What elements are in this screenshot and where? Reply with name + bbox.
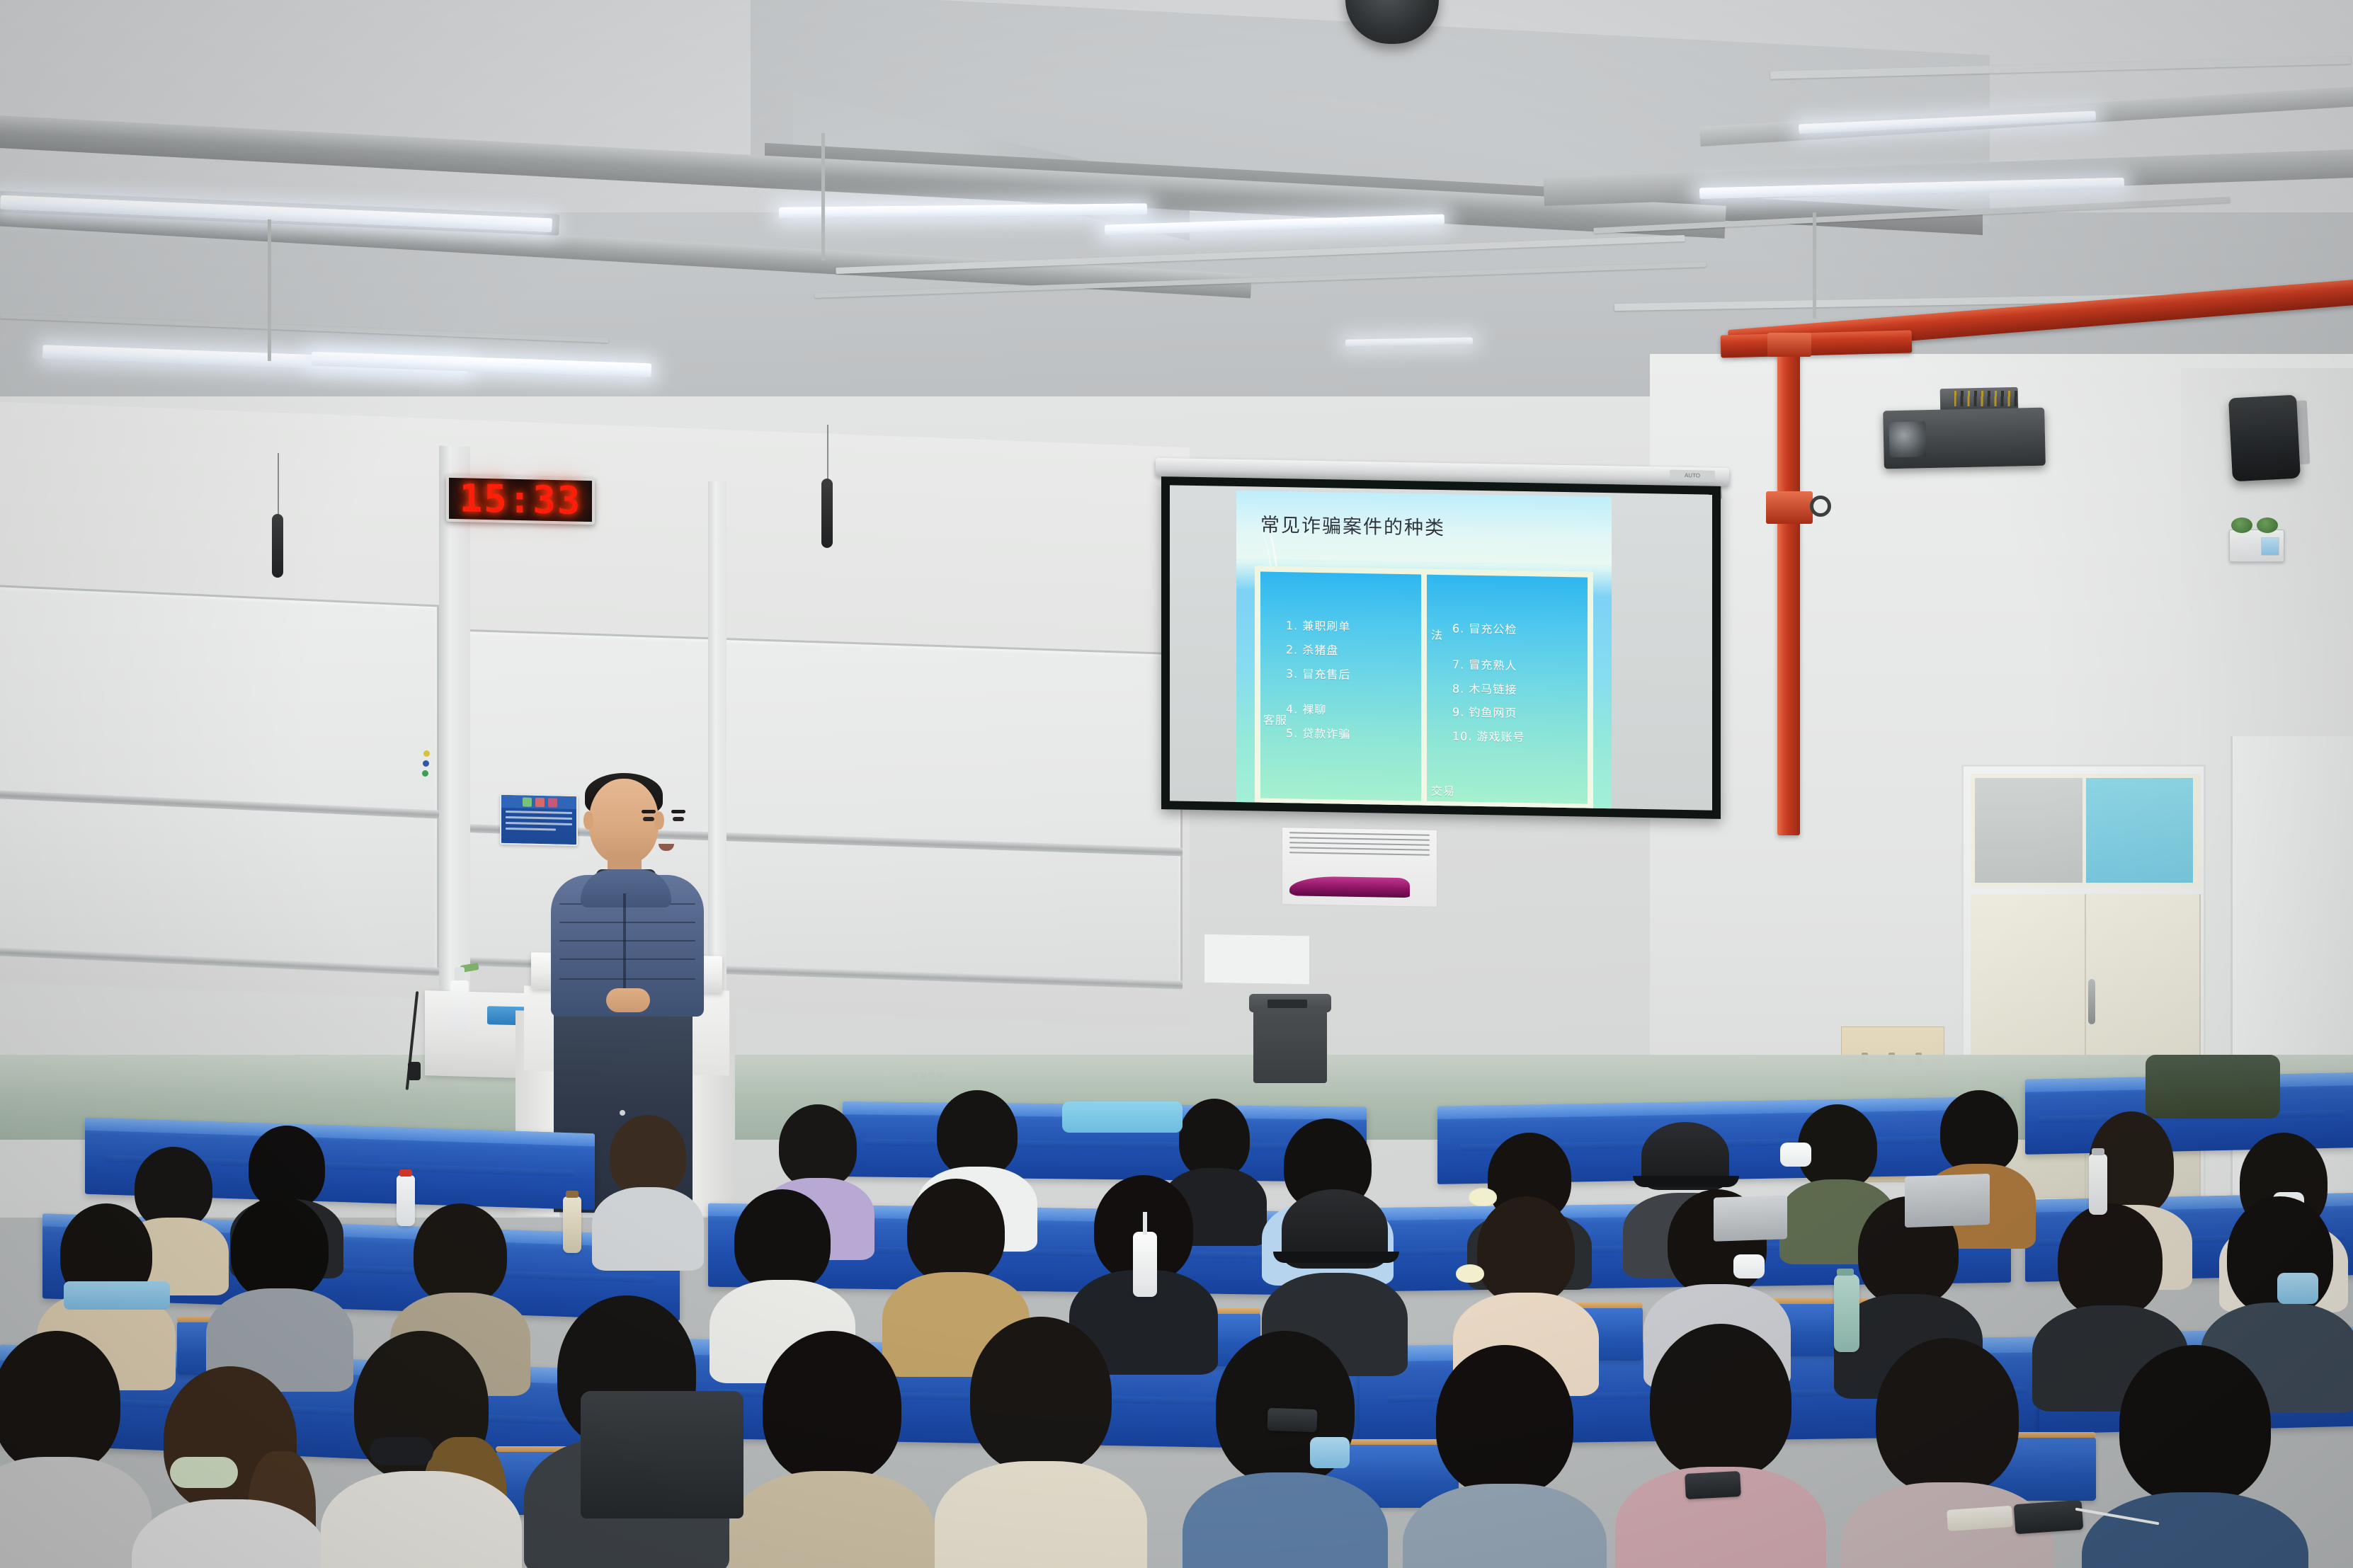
student (1629, 1324, 1813, 1568)
slide-list-right: 6. 冒充公检 7. 冒充熟人 8. 木马链接 9. 钓鱼网页 10. 游戏账号 (1434, 623, 1580, 745)
digital-wall-clock: 15:33 (446, 475, 595, 525)
smartphone[interactable] (1685, 1471, 1741, 1499)
projector-cabling (1954, 391, 2018, 406)
projection-screen-assembly: AUTO 常见诈骗案件的种类 客服 1. 兼职刷单 2. 杀猪盘 (1161, 471, 1721, 835)
hanging-microphone (821, 479, 833, 548)
door-window-pane (2086, 778, 2197, 883)
water-bottle (397, 1175, 415, 1226)
clock-time-readout: 15:33 (460, 479, 582, 520)
presenter-ear (583, 811, 593, 830)
hanging-microphone (272, 514, 283, 578)
hair-bow (1456, 1264, 1484, 1283)
fire-sprinkler-pipe-vertical (1777, 347, 1800, 835)
student (2096, 1345, 2294, 1568)
student (1416, 1345, 1593, 1568)
presentation-slide: 常见诈骗案件的种类 客服 1. 兼职刷单 2. 杀猪盘 3. 冒充售后 4. 裸… (1236, 491, 1612, 811)
wall-pillar (439, 446, 470, 992)
face-mask (1780, 1143, 1811, 1167)
presenter-eyebrow (671, 810, 685, 813)
face-mask (1310, 1437, 1350, 1468)
microphone-cable (827, 425, 828, 481)
wall-poster (1282, 827, 1437, 908)
slide-list-item: 9. 钓鱼网页 (1434, 706, 1580, 721)
laptop[interactable] (1905, 1174, 1990, 1227)
hair-scrunchie (170, 1457, 238, 1488)
bottle-cap (2092, 1148, 2104, 1155)
student (595, 1115, 701, 1257)
slide-title: 常见诈骗案件的种类 (1260, 510, 1445, 541)
board-magnet (423, 750, 430, 757)
presenter-mouth (659, 844, 674, 851)
whiteboard-panel-left (0, 584, 439, 973)
projector-lens-icon (1888, 421, 1926, 457)
ceiling-conduit (0, 314, 609, 343)
presenter-hands (606, 988, 650, 1012)
slide-column-left: 客服 1. 兼职刷单 2. 杀猪盘 3. 冒充售后 4. 裸聊 5. 贷款诈骗 (1260, 572, 1421, 801)
student (212, 1196, 347, 1373)
board-magnet (423, 760, 429, 767)
student (949, 1317, 1133, 1568)
water-bottle (2089, 1154, 2107, 1215)
trash-bin (1253, 1005, 1327, 1083)
pipe-elbow (1767, 333, 1811, 357)
power-bank (1947, 1506, 2013, 1531)
student (333, 1331, 510, 1568)
cloth-bag (64, 1281, 170, 1310)
emergency-exit-light (2229, 530, 2284, 562)
ceiling-drop-rod (821, 133, 825, 261)
exit-lamp-icon (2257, 517, 2278, 533)
door-transom-window (1971, 774, 2201, 887)
presenter-eyebrow (642, 810, 656, 813)
presenter-eye (673, 817, 684, 821)
presenter-hood (581, 869, 671, 908)
projection-screen-frame: 常见诈骗案件的种类 客服 1. 兼职刷单 2. 杀猪盘 3. 冒充售后 4. 裸… (1161, 476, 1721, 819)
pipe-valve-ring (1810, 496, 1831, 517)
door-handle[interactable] (2088, 979, 2095, 1024)
ceiling-projector (1883, 408, 2046, 469)
pipe-clamp (1766, 491, 1813, 524)
presenter-eye (643, 817, 654, 821)
slide-list-item: 10. 游戏账号 (1434, 731, 1580, 745)
hair-tie (370, 1437, 433, 1465)
student (1197, 1331, 1374, 1568)
laptop[interactable] (1714, 1195, 1787, 1242)
notice-icon (523, 798, 532, 807)
student (0, 1331, 142, 1568)
exit-light-badge (2261, 537, 2279, 556)
microphone-cable (278, 453, 279, 517)
exit-lamp-icon (2231, 517, 2252, 533)
drink-cup (1133, 1232, 1157, 1297)
student (142, 1366, 319, 1568)
student (743, 1331, 921, 1568)
lecture-hall-scene: 15:33 AUTO 常见诈骗案件的种类 (0, 0, 2353, 1568)
poster-text-lines (1289, 832, 1430, 859)
face-mask (1733, 1254, 1765, 1278)
screen-control-label: AUTO (1670, 470, 1715, 482)
bottle-cap (399, 1169, 412, 1177)
door-window-pane (1975, 778, 2086, 883)
smartphone[interactable] (2014, 1500, 2084, 1535)
presenter (545, 779, 708, 1019)
fluorescent-tube-light (312, 352, 651, 378)
desk-cable-connector (408, 1062, 421, 1080)
poster-wave-graphic (1289, 876, 1410, 898)
presenter-ear (654, 811, 664, 830)
slide-list-item: 3. 冒充售后 (1267, 668, 1414, 682)
wall-speaker (2228, 395, 2301, 482)
wall-notice-sheet (1204, 934, 1310, 985)
wall-pillar-secondary (708, 481, 727, 991)
trash-bin-label (1267, 1000, 1307, 1008)
face-mask (2277, 1273, 2318, 1304)
student (1855, 1338, 2039, 1568)
slide-content-area: 客服 1. 兼职刷单 2. 杀猪盘 3. 冒充售后 4. 裸聊 5. 贷款诈骗 … (1255, 566, 1593, 809)
slide-label-right-bottom: 交易 (1431, 782, 1455, 799)
slide-list-item: 2. 杀猪盘 (1267, 644, 1414, 658)
fluorescent-tube-light (1345, 337, 1473, 346)
slide-column-right: 法 交易 6. 冒充公检 7. 冒充熟人 8. 木马链接 9. 钓鱼网页 10.… (1427, 575, 1588, 804)
presenter-jacket-zipper (623, 893, 626, 1000)
slide-list-item: 8. 木马链接 (1434, 682, 1580, 697)
presenter-head (589, 779, 659, 864)
water-bottle (563, 1196, 581, 1253)
bottle-cap (566, 1191, 579, 1198)
ceiling-drop-rod (1813, 212, 1816, 319)
ceiling-drop-rod (268, 219, 271, 361)
slide-list-item: 4. 裸聊 (1267, 704, 1414, 718)
water-bottle (1834, 1274, 1859, 1352)
board-magnet (422, 770, 428, 777)
cloth-bag (1062, 1101, 1183, 1133)
backpack (581, 1391, 743, 1518)
smartphone[interactable] (1267, 1408, 1317, 1432)
slide-list-item: 7. 冒充熟人 (1434, 659, 1580, 673)
slide-label-left: 客服 (1263, 711, 1287, 728)
bottle-cap (1837, 1269, 1854, 1276)
slide-list-item: 1. 兼职刷单 (1267, 620, 1414, 634)
straw-icon (1143, 1212, 1147, 1235)
slide-label-right-top: 法 (1431, 626, 1443, 643)
slide-list-left: 1. 兼职刷单 2. 杀猪盘 3. 冒充售后 4. 裸聊 5. 贷款诈骗 (1267, 620, 1414, 743)
notice-icon (535, 798, 545, 807)
slide-list-item: 5. 贷款诈骗 (1267, 728, 1414, 742)
jacket-on-desk (2146, 1055, 2280, 1118)
projection-screen-surface: 常见诈骗案件的种类 客服 1. 兼职刷单 2. 杀猪盘 3. 冒充售后 4. 裸… (1170, 485, 1712, 810)
slide-list-item: 6. 冒充公检 (1434, 623, 1580, 637)
